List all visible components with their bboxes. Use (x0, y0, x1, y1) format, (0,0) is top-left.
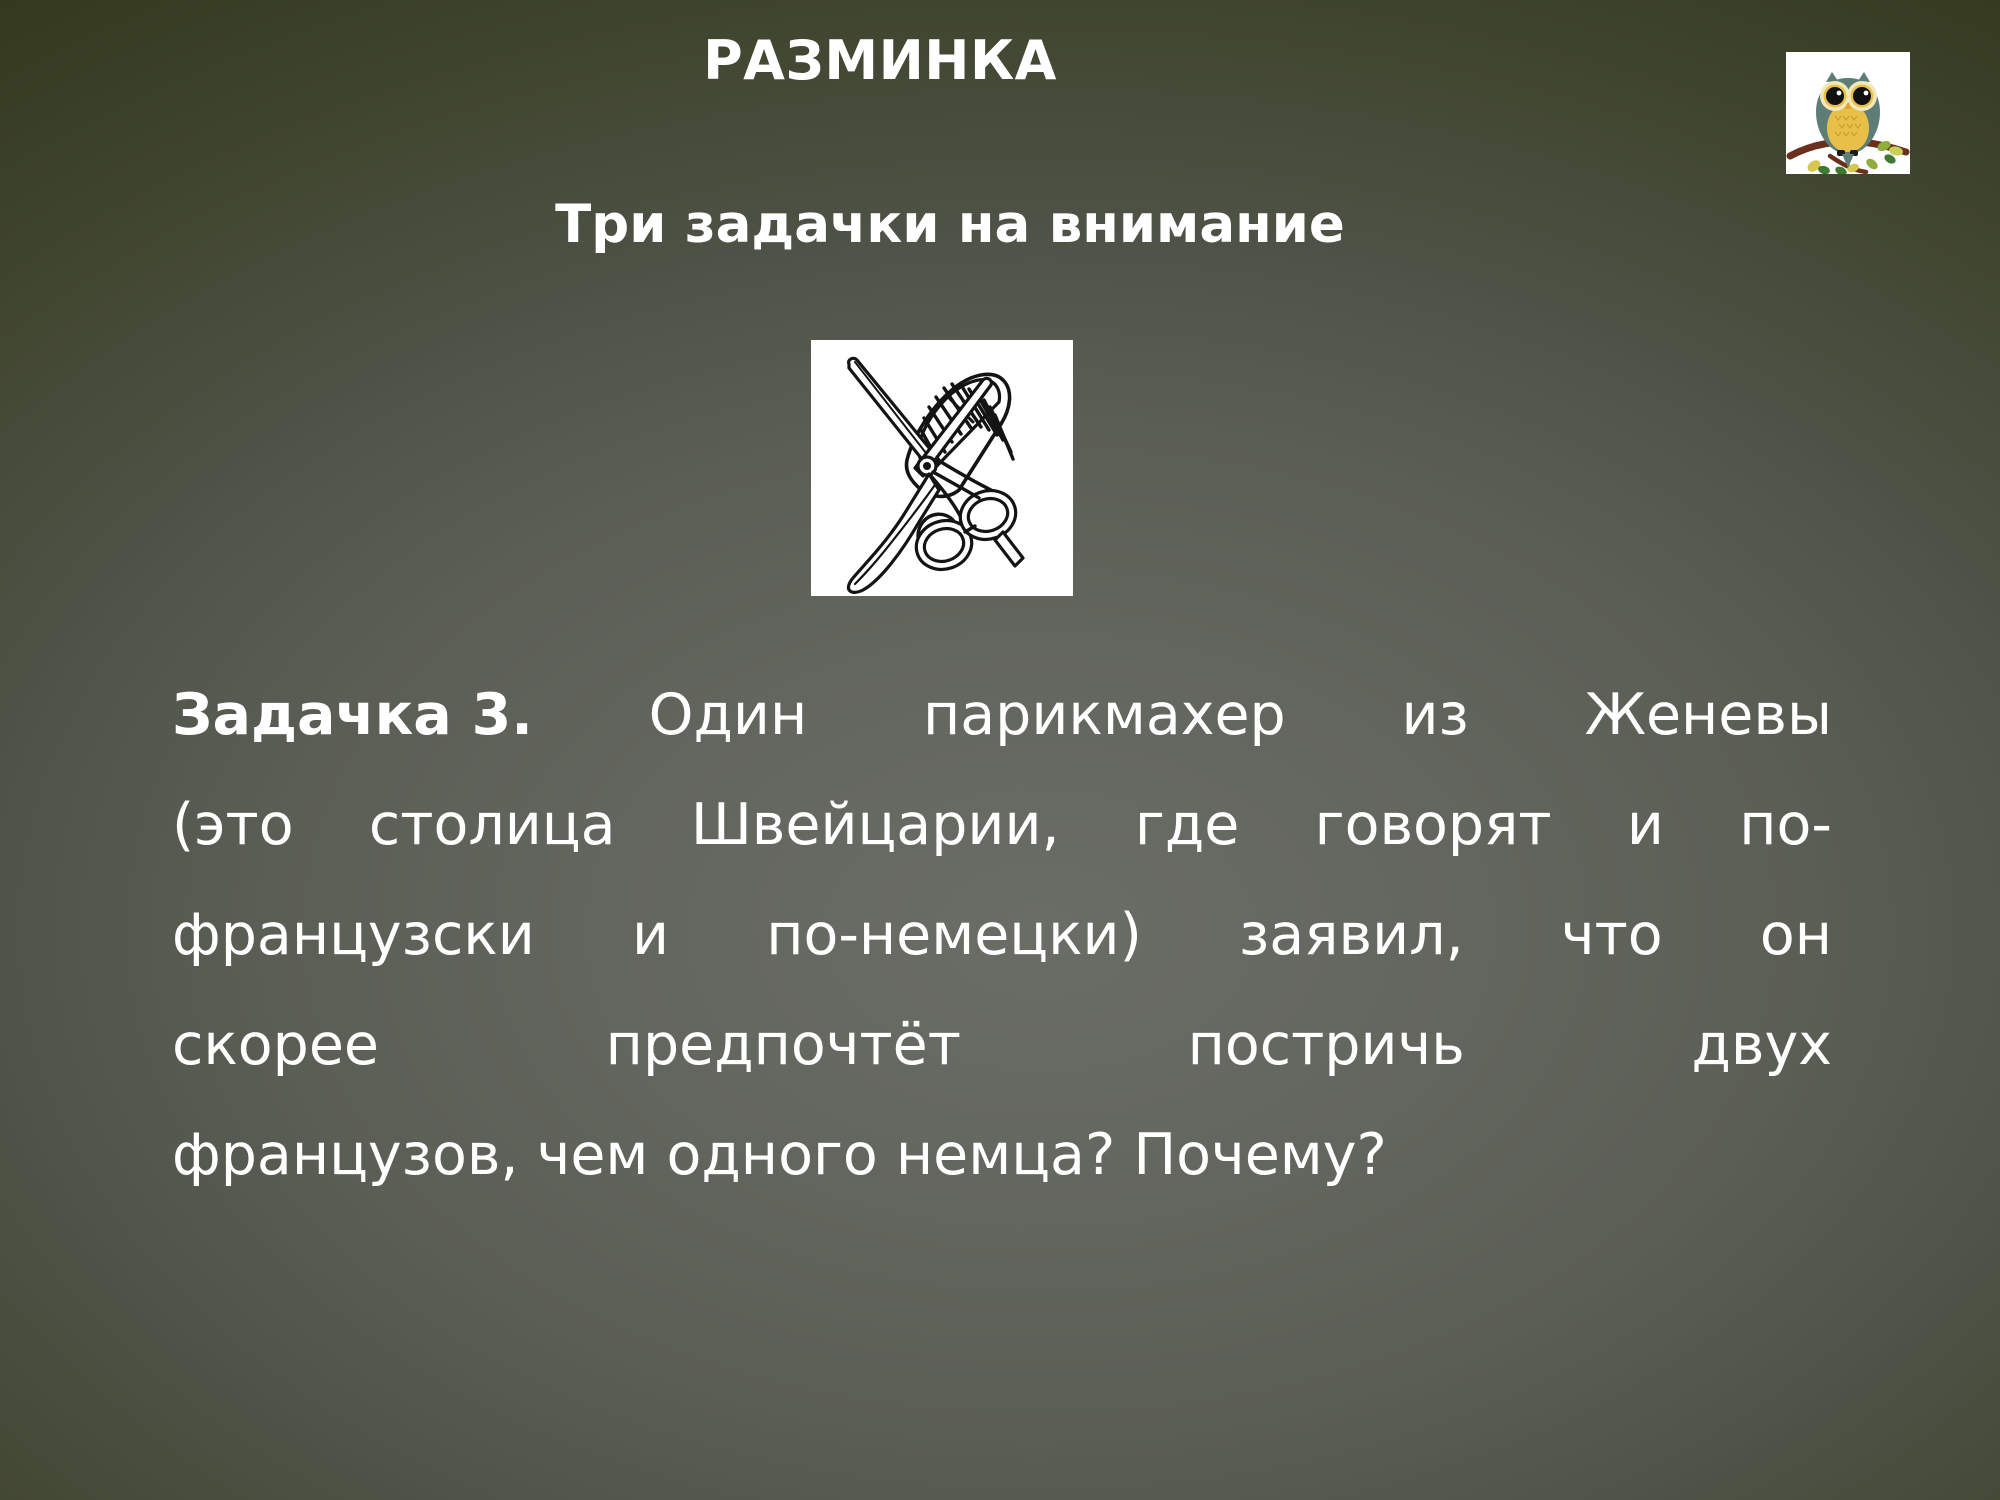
task-word: Один (649, 660, 808, 770)
task-word: парикмахер (923, 660, 1286, 770)
task-label: Задачка 3. (172, 660, 533, 770)
task-word: (это (172, 770, 294, 880)
task-word: что (1561, 880, 1663, 990)
task-word: по-немецки) (766, 880, 1142, 990)
task-word: столица (369, 770, 616, 880)
task-word: говорят (1315, 770, 1552, 880)
task-word: французов, чем одного немца? Почему? (172, 1122, 1387, 1188)
task-word: постричь (1188, 990, 1465, 1100)
task-word: Швейцарии, (691, 770, 1060, 880)
task-word: по- (1739, 770, 1832, 880)
task-word: Женевы (1585, 660, 1832, 770)
owl-illustration (1786, 52, 1910, 174)
task-word: французски (172, 880, 535, 990)
scissors-comb-illustration (811, 340, 1073, 596)
task-word: где (1135, 770, 1239, 880)
task-word: и (632, 880, 669, 990)
task-word: из (1401, 660, 1468, 770)
task-word: двух (1692, 990, 1832, 1100)
presentation-slide: РАЗМИНКА (0, 0, 2000, 1500)
task-word: скорее (172, 990, 379, 1100)
task-word: заявил, (1239, 880, 1464, 990)
task-word: он (1760, 880, 1832, 990)
task-text: Задачка 3. Один парикмахер из Женевы (эт… (172, 660, 1832, 1210)
task-text-line-1: Задачка 3. Один парикмахер из Женевы (172, 660, 1832, 770)
task-text-line-3: французски и по-немецки) заявил, что он (172, 880, 1832, 990)
task-text-line-5: французов, чем одного немца? Почему? (172, 1100, 1832, 1210)
task-text-line-2: (это столица Швейцарии, где говорят и по… (172, 770, 1832, 880)
task-text-line-4: скорее предпочтёт постричь двух (172, 990, 1832, 1100)
slide-subtitle: Три задачки на внимание (0, 198, 1900, 251)
task-word: и (1627, 770, 1664, 880)
page-title: РАЗМИНКА (0, 34, 1760, 88)
task-word: предпочтёт (606, 990, 961, 1100)
